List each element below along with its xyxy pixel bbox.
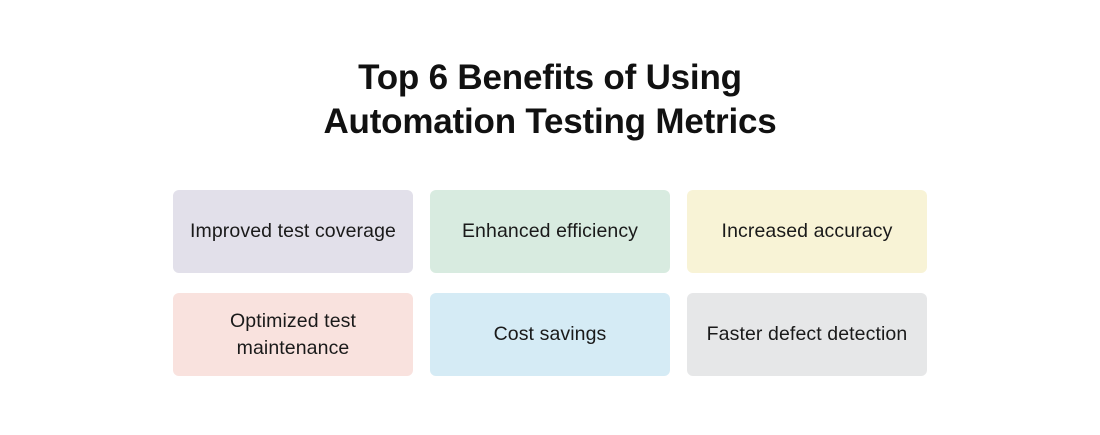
benefit-card-optimized-test-maintenance: Optimized test maintenance bbox=[173, 293, 413, 376]
benefit-card-increased-accuracy: Increased accuracy bbox=[687, 190, 927, 273]
title-line-1: Top 6 Benefits of Using bbox=[0, 56, 1100, 100]
benefit-label: Increased accuracy bbox=[722, 218, 893, 245]
title-line-2: Automation Testing Metrics bbox=[0, 100, 1100, 144]
benefit-card-enhanced-efficiency: Enhanced efficiency bbox=[430, 190, 670, 273]
benefit-label: Enhanced efficiency bbox=[462, 218, 638, 245]
page-title: Top 6 Benefits of Using Automation Testi… bbox=[0, 56, 1100, 144]
benefit-card-improved-test-coverage: Improved test coverage bbox=[173, 190, 413, 273]
benefit-label: Improved test coverage bbox=[190, 218, 396, 245]
benefit-card-faster-defect-detection: Faster defect detection bbox=[687, 293, 927, 376]
benefit-label: Optimized test maintenance bbox=[187, 308, 399, 362]
benefits-grid: Improved test coverage Enhanced efficien… bbox=[173, 190, 927, 376]
benefit-label: Faster defect detection bbox=[707, 321, 908, 348]
benefit-card-cost-savings: Cost savings bbox=[430, 293, 670, 376]
infographic-canvas: Top 6 Benefits of Using Automation Testi… bbox=[0, 0, 1100, 435]
benefit-label: Cost savings bbox=[494, 321, 607, 348]
